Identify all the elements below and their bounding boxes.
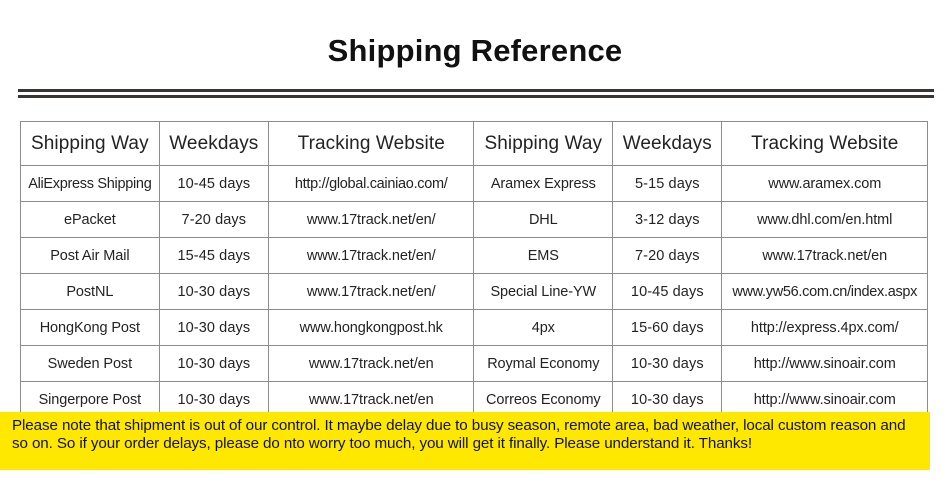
shipping-way-cell: Roymal Economy	[474, 346, 613, 382]
shipping-reference-table: Shipping Way Weekdays Tracking Website S…	[20, 121, 928, 418]
weekdays-cell: 10-30 days	[159, 274, 268, 310]
shipping-way-cell: Post Air Mail	[21, 238, 160, 274]
shipping-way-cell: EMS	[474, 238, 613, 274]
weekdays-cell: 10-30 days	[613, 346, 722, 382]
shipping-way-cell: PostNL	[21, 274, 160, 310]
weekdays-cell: 7-20 days	[613, 238, 722, 274]
shipping-reference-table-container: Shipping Way Weekdays Tracking Website S…	[20, 121, 928, 418]
weekdays-cell: 15-45 days	[159, 238, 268, 274]
column-header-shipping-way-right: Shipping Way	[474, 122, 613, 166]
page-title: Shipping Reference	[0, 32, 950, 70]
tracking-website-cell: www.17track.net/en	[722, 238, 928, 274]
weekdays-cell: 10-45 days	[159, 166, 268, 202]
shipping-way-cell: DHL	[474, 202, 613, 238]
weekdays-cell: 3-12 days	[613, 202, 722, 238]
divider-line-top	[18, 89, 934, 92]
shipping-way-cell: Special Line-YW	[474, 274, 613, 310]
tracking-website-cell: www.aramex.com	[722, 166, 928, 202]
shipping-way-cell: Sweden Post	[21, 346, 160, 382]
table-header-row: Shipping Way Weekdays Tracking Website S…	[21, 122, 928, 166]
tracking-website-cell: www.17track.net/en/	[268, 202, 473, 238]
tracking-website-cell: http://www.sinoair.com	[722, 346, 928, 382]
tracking-website-cell: www.17track.net/en	[268, 346, 473, 382]
column-header-weekdays-left: Weekdays	[159, 122, 268, 166]
shipping-way-cell: 4px	[474, 310, 613, 346]
weekdays-cell: 5-15 days	[613, 166, 722, 202]
weekdays-cell: 15-60 days	[613, 310, 722, 346]
column-header-weekdays-right: Weekdays	[613, 122, 722, 166]
tracking-website-cell: http://global.cainiao.com/	[268, 166, 473, 202]
shipping-notice-banner: Please note that shipment is out of our …	[0, 412, 930, 470]
tracking-website-cell: http://express.4px.com/	[722, 310, 928, 346]
shipping-notice-text: Please note that shipment is out of our …	[12, 417, 922, 452]
weekdays-cell: 10-45 days	[613, 274, 722, 310]
column-header-tracking-website-left: Tracking Website	[268, 122, 473, 166]
column-header-shipping-way-left: Shipping Way	[21, 122, 160, 166]
table-row: ePacket 7-20 days www.17track.net/en/ DH…	[21, 202, 928, 238]
tracking-website-cell: www.yw56.com.cn/index.aspx	[722, 274, 928, 310]
table-row: Sweden Post 10-30 days www.17track.net/e…	[21, 346, 928, 382]
divider-line-bottom	[18, 95, 934, 98]
shipping-way-cell: HongKong Post	[21, 310, 160, 346]
weekdays-cell: 10-30 days	[159, 346, 268, 382]
table-row: Post Air Mail 15-45 days www.17track.net…	[21, 238, 928, 274]
column-header-tracking-website-right: Tracking Website	[722, 122, 928, 166]
tracking-website-cell: www.17track.net/en/	[268, 238, 473, 274]
table-row: AliExpress Shipping 10-45 days http://gl…	[21, 166, 928, 202]
shipping-way-cell: Aramex Express	[474, 166, 613, 202]
shipping-way-cell: AliExpress Shipping	[21, 166, 160, 202]
shipping-way-cell: ePacket	[21, 202, 160, 238]
table-row: PostNL 10-30 days www.17track.net/en/ Sp…	[21, 274, 928, 310]
tracking-website-cell: www.hongkongpost.hk	[268, 310, 473, 346]
table-row: HongKong Post 10-30 days www.hongkongpos…	[21, 310, 928, 346]
weekdays-cell: 7-20 days	[159, 202, 268, 238]
title-divider	[18, 89, 934, 98]
weekdays-cell: 10-30 days	[159, 310, 268, 346]
tracking-website-cell: www.17track.net/en/	[268, 274, 473, 310]
tracking-website-cell: www.dhl.com/en.html	[722, 202, 928, 238]
